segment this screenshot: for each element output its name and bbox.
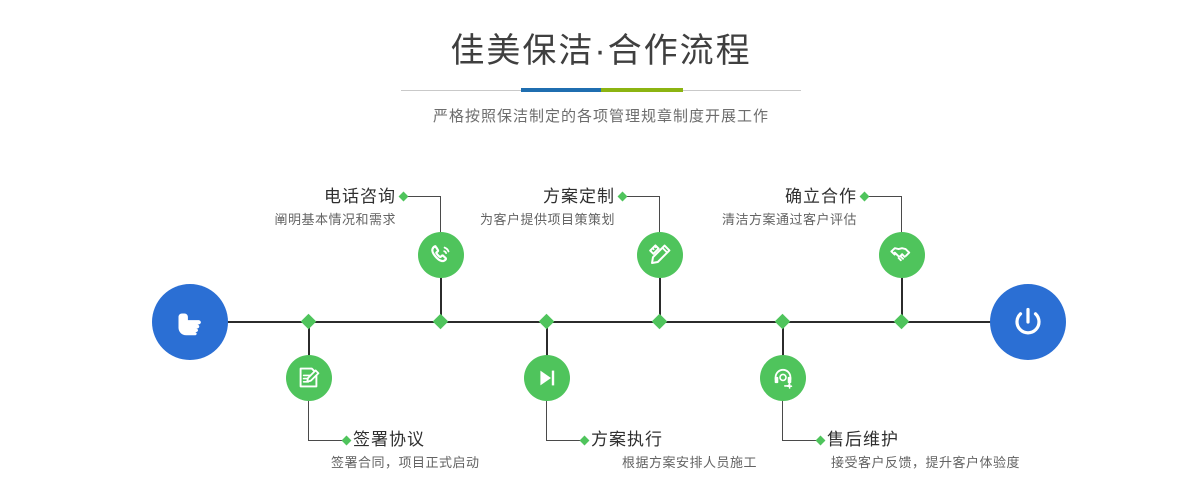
label-top-3-title: 确立合作 xyxy=(601,185,857,209)
label-top-1-desc: 阐明基本情况和需求 xyxy=(140,209,396,231)
end-endpoint xyxy=(990,284,1066,360)
process-flow-diagram: 佳美保洁·合作流程 严格按照保洁制定的各项管理规章制度开展工作 xyxy=(0,0,1202,502)
label-top-2: 方案定制 为客户提供项目策策划 xyxy=(359,185,615,231)
axis-diamond-bottom-3 xyxy=(775,314,791,330)
axis-diamond-top-2 xyxy=(652,314,668,330)
label-top-1-title: 电话咨询 xyxy=(140,185,396,209)
label-top-2-desc: 为客户提供项目策策划 xyxy=(359,209,615,231)
phone-call-icon xyxy=(427,241,455,269)
axis-diamond-top-3 xyxy=(894,314,910,330)
label-top-1: 电话咨询 阐明基本情况和需求 xyxy=(140,185,396,231)
callout-dot-top-3 xyxy=(860,192,870,202)
label-top-3: 确立合作 清洁方案通过客户评估 xyxy=(601,185,857,231)
label-bottom-3-desc: 接受客户反馈，提升客户体验度 xyxy=(831,452,1107,474)
headset-support-icon xyxy=(770,365,796,391)
callout-dot-bottom-1 xyxy=(342,436,352,446)
node-top-2 xyxy=(637,232,683,278)
node-bottom-1 xyxy=(286,355,332,401)
page-title: 佳美保洁·合作流程 xyxy=(0,28,1202,74)
callout-v-bottom-2 xyxy=(546,401,547,441)
play-execute-icon xyxy=(534,365,560,391)
page-subtitle: 严格按照保洁制定的各项管理规章制度开展工作 xyxy=(0,106,1202,128)
callout-v-top-3 xyxy=(901,196,902,232)
timeline-axis xyxy=(160,321,1042,323)
label-bottom-2: 方案执行 根据方案安排人员施工 xyxy=(591,428,851,474)
power-icon xyxy=(1007,301,1049,343)
title-divider xyxy=(401,84,801,98)
document-edit-icon xyxy=(296,365,322,391)
page-header: 佳美保洁·合作流程 严格按照保洁制定的各项管理规章制度开展工作 xyxy=(0,28,1202,128)
callout-v-bottom-3 xyxy=(782,401,783,441)
label-bottom-1-desc: 签署合同，项目正式启动 xyxy=(331,452,613,474)
node-top-1 xyxy=(418,232,464,278)
start-endpoint xyxy=(152,284,228,360)
label-bottom-3-title: 售后维护 xyxy=(827,428,1107,452)
label-bottom-3: 售后维护 接受客户反馈，提升客户体验度 xyxy=(827,428,1107,474)
label-top-2-title: 方案定制 xyxy=(359,185,615,209)
label-bottom-1: 签署协议 签署合同，项目正式启动 xyxy=(353,428,613,474)
axis-diamond-bottom-2 xyxy=(539,314,555,330)
pencil-ruler-icon xyxy=(646,241,674,269)
callout-v-bottom-1 xyxy=(308,401,309,441)
axis-diamond-bottom-1 xyxy=(301,314,317,330)
node-bottom-3 xyxy=(760,355,806,401)
divider-green-segment xyxy=(601,88,683,92)
label-bottom-2-desc: 根据方案安排人员施工 xyxy=(622,452,851,474)
divider-blue-segment xyxy=(521,88,601,92)
callout-h-top-3 xyxy=(865,196,902,197)
node-bottom-2 xyxy=(524,355,570,401)
handshake-icon xyxy=(888,241,916,269)
pointing-hand-icon xyxy=(170,302,210,342)
node-top-3 xyxy=(879,232,925,278)
label-top-3-desc: 清洁方案通过客户评估 xyxy=(601,209,857,231)
axis-diamond-top-1 xyxy=(433,314,449,330)
